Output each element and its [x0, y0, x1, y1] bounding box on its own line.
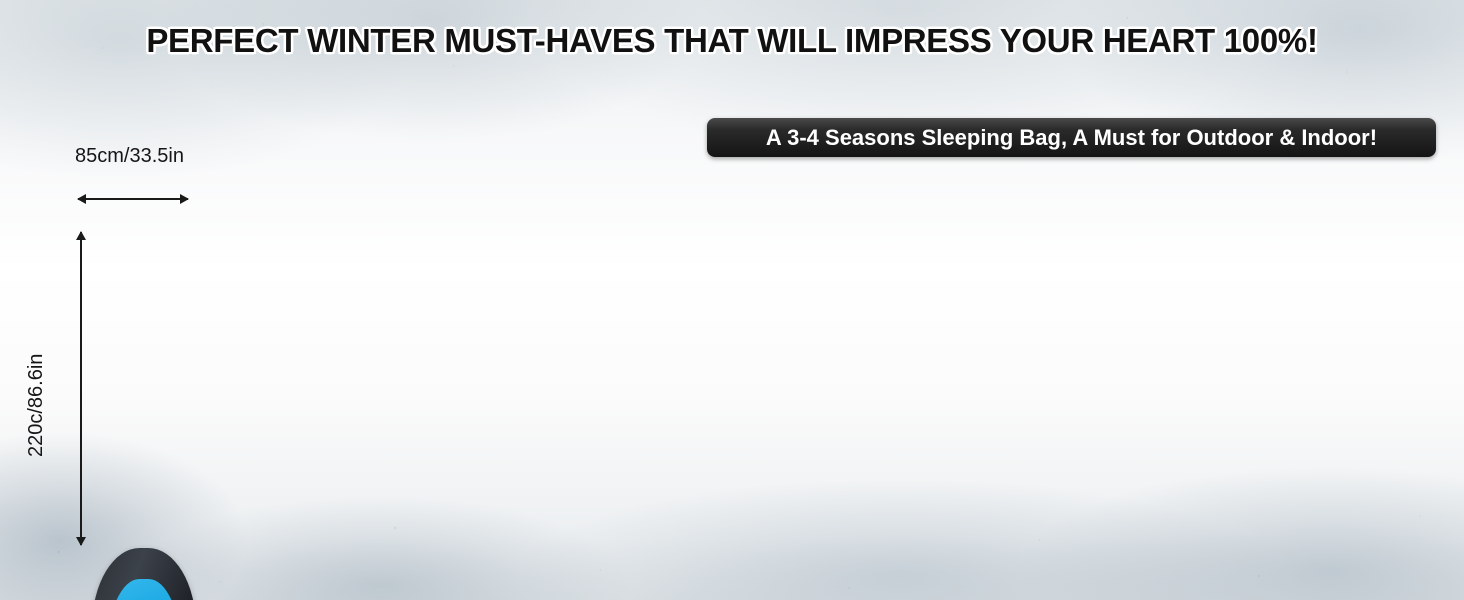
l-bag-width-arrow — [78, 198, 188, 200]
page-title: PERFECT WINTER MUST-HAVES THAT WILL IMPR… — [0, 22, 1464, 60]
infographic-canvas: PERFECT WINTER MUST-HAVES THAT WILL IMPR… — [0, 0, 1464, 600]
l-bag-height-arrow — [80, 232, 82, 545]
l-bag-width-label: 85cm/33.5in — [75, 145, 1464, 168]
m-bag-height-label: 210cm/81.9in — [352, 11, 375, 600]
l-bag-height-label: 220c/86.6in — [25, 0, 48, 457]
sleeping-bag-l-black: Naturehike CW700 — [90, 548, 198, 600]
